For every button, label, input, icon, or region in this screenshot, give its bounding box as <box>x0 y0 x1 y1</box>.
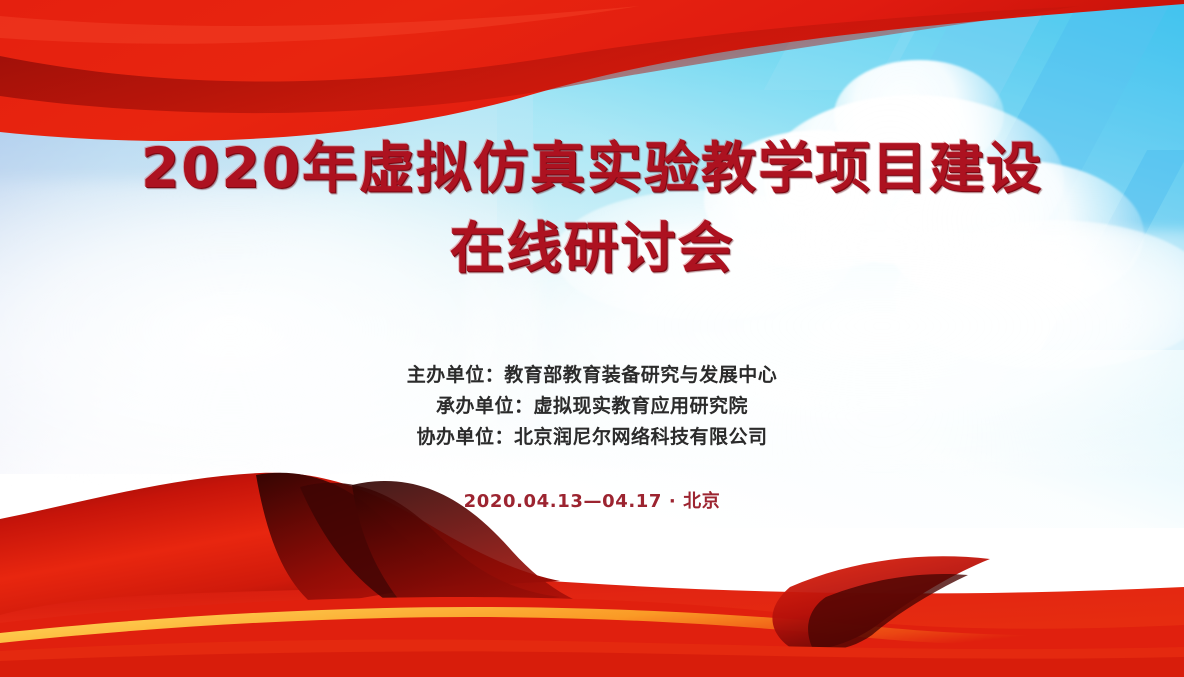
organizer-value: 虚拟现实教育应用研究院 <box>534 395 749 417</box>
title-line-1: 2020年虚拟仿真实验教学项目建设 <box>0 128 1184 208</box>
organizer-label: 协办单位： <box>416 426 514 448</box>
organizer-row: 主办单位：教育部教育装备研究与发展中心 <box>0 360 1184 391</box>
organizer-list: 主办单位：教育部教育装备研究与发展中心 承办单位：虚拟现实教育应用研究院 协办单… <box>0 360 1184 453</box>
poster-title: 2020年虚拟仿真实验教学项目建设 在线研讨会 <box>0 128 1184 288</box>
organizer-value: 教育部教育装备研究与发展中心 <box>504 364 777 386</box>
date-location-line: 2020.04.13—04.17 · 北京 <box>0 487 1184 513</box>
title-line-2: 在线研讨会 <box>0 208 1184 288</box>
organizer-row: 协办单位：北京润尼尔网络科技有限公司 <box>0 422 1184 453</box>
organizer-label: 承办单位： <box>436 395 534 417</box>
conference-poster: 2020年虚拟仿真实验教学项目建设 在线研讨会 主办单位：教育部教育装备研究与发… <box>0 0 1184 677</box>
bottom-red-ribbon <box>0 447 1184 677</box>
organizer-value: 北京润尼尔网络科技有限公司 <box>514 426 768 448</box>
organizer-row: 承办单位：虚拟现实教育应用研究院 <box>0 391 1184 422</box>
organizer-label: 主办单位： <box>407 364 505 386</box>
